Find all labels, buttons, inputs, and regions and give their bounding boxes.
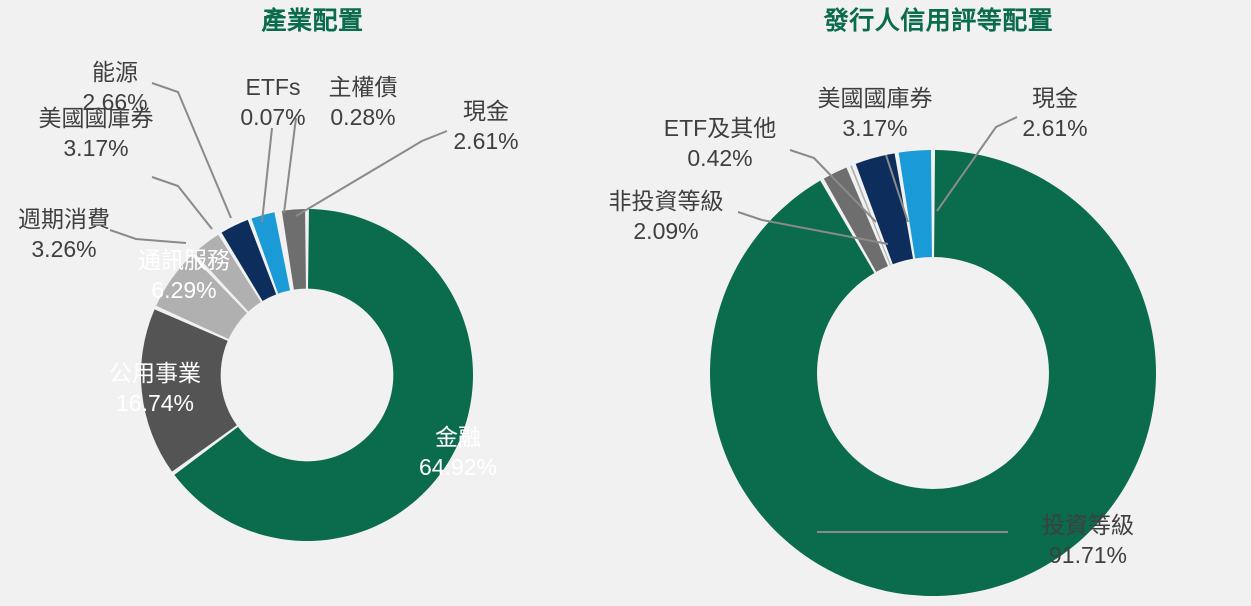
label-cash: 現金 2.61% <box>432 96 540 156</box>
leader-line-ustreasury <box>152 177 212 229</box>
label-investment-grade: 投資等級 91.71% <box>1018 510 1158 570</box>
leader-line-etfs <box>262 128 272 222</box>
label-ust: 美國國庫券 3.17% <box>798 83 952 143</box>
charts-page: 產業配置 能源 2.66% 美 <box>0 0 1251 606</box>
label-sovereign-debt: 主權債 0.28% <box>318 72 408 132</box>
label-us-treasury: 美國國庫券 3.17% <box>22 103 170 163</box>
label-etf-other: ETF及其他 0.42% <box>654 113 786 173</box>
label-cyclical-consumer: 週期消費 3.26% <box>0 204 128 264</box>
leader-line-sovereign <box>284 118 296 213</box>
label-high-yield: 非投資等級 2.09% <box>598 186 734 246</box>
label-telecom-services: 通訊服務 6.29% <box>124 245 244 305</box>
label-utilities: 公用事業 16.74% <box>95 358 215 418</box>
leader-line-cash <box>296 131 447 216</box>
credit-rating-allocation-panel: 發行人信用評等配置 美國國庫券 3.17% ETF及其他 <box>626 0 1251 606</box>
label-finance: 金融 64.92% <box>399 422 517 482</box>
label-cash-credit: 現金 2.61% <box>1001 83 1109 143</box>
label-etfs: ETFs 0.07% <box>222 72 324 132</box>
sector-allocation-panel: 產業配置 能源 2.66% 美 <box>0 0 625 606</box>
